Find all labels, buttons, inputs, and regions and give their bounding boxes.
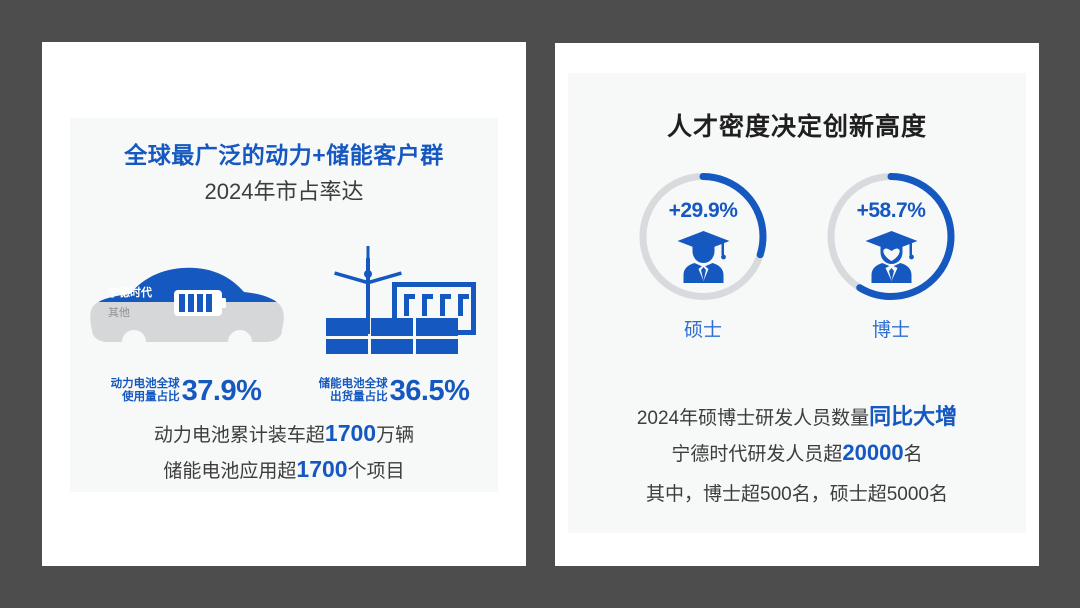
car-rest-label: 其他 (108, 306, 130, 319)
storage-stat-block: 储能电池全球 出货量占比 36.5% (294, 246, 494, 406)
donut-doctor-ring: +58.7% (824, 169, 959, 304)
automotive-stat: 动力电池全球 使用量占比 37.9% (78, 376, 294, 406)
donut-doctor-value: +58.7% (824, 199, 959, 223)
donut-doctor: +58.7% (801, 169, 981, 359)
left-footer-line-1: 动力电池累计装车超1700万辆 (70, 420, 498, 447)
donut-master-caption: 硕士 (613, 315, 793, 342)
right-footer-2-prefix: 宁德时代研发人员超 (671, 444, 842, 465)
automotive-stat-value: 37.9% (182, 376, 262, 406)
wind-turbine-battery-storage-icon (316, 246, 486, 359)
left-footer-1-prefix: 动力电池累计装车超 (154, 425, 325, 446)
left-inner-panel: 全球最广泛的动力+储能客户群 2024年市占率达 (70, 118, 498, 492)
right-footer-line-2: 宁德时代研发人员超20000名 (568, 439, 1026, 466)
donut-row: +29.9% (568, 169, 1026, 359)
electric-car-icon: 宁德时代 其他 (78, 246, 294, 357)
storage-stat-label: 储能电池全球 出货量占比 (319, 378, 388, 404)
right-footer-1-prefix: 2024年硕博士研发人员数量 (637, 408, 869, 429)
donut-doctor-caption: 博士 (801, 315, 981, 342)
right-inner-panel: 人才密度决定创新高度 +29.9% (568, 73, 1026, 533)
left-footer-2-prefix: 储能电池应用超 (163, 461, 296, 482)
right-footer-2-suffix: 名 (904, 444, 923, 465)
storage-stat: 储能电池全球 出货量占比 36.5% (294, 376, 494, 406)
right-footer-line-3: 其中，博士超500名，硕士超5000名 (568, 479, 1026, 506)
left-icon-row: 宁德时代 其他 (70, 246, 498, 406)
donut-master-value: +29.9% (636, 199, 771, 223)
right-footer-1-highlight: 同比大增 (869, 404, 957, 429)
graduate-doctor-icon (863, 227, 919, 283)
right-card: 人才密度决定创新高度 +29.9% (555, 43, 1039, 566)
automotive-stat-label: 动力电池全球 使用量占比 (111, 378, 180, 404)
left-footer-line-2: 储能电池应用超1700个项目 (70, 456, 498, 483)
slide-canvas: 全球最广泛的动力+储能客户群 2024年市占率达 (0, 0, 1080, 608)
graduate-master-icon (675, 227, 731, 283)
left-footer-1-highlight: 1700 (325, 420, 376, 446)
right-footer-2-highlight: 20000 (842, 440, 903, 465)
battery-icon (174, 290, 226, 316)
left-footer-2-suffix: 个项目 (348, 461, 405, 482)
left-panel-subtitle: 2024年市占率达 (70, 174, 498, 206)
left-panel-title: 全球最广泛的动力+储能客户群 (70, 136, 498, 170)
donut-master-ring: +29.9% (636, 169, 771, 304)
left-footer-1-suffix: 万辆 (376, 425, 414, 446)
automotive-stat-block: 宁德时代 其他 (78, 246, 294, 406)
right-footer-3-prefix: 其中，博士超500名，硕士超5000名 (646, 484, 948, 505)
right-panel-heading: 人才密度决定创新高度 (568, 107, 1026, 143)
storage-stat-value: 36.5% (390, 376, 470, 406)
left-footer-2-highlight: 1700 (296, 456, 347, 482)
donut-master: +29.9% (613, 169, 793, 359)
right-footer-line-1: 2024年硕博士研发人员数量同比大增 (568, 399, 1026, 431)
left-card: 全球最广泛的动力+储能客户群 2024年市占率达 (42, 42, 526, 566)
car-fill-label: 宁德时代 (108, 285, 152, 299)
